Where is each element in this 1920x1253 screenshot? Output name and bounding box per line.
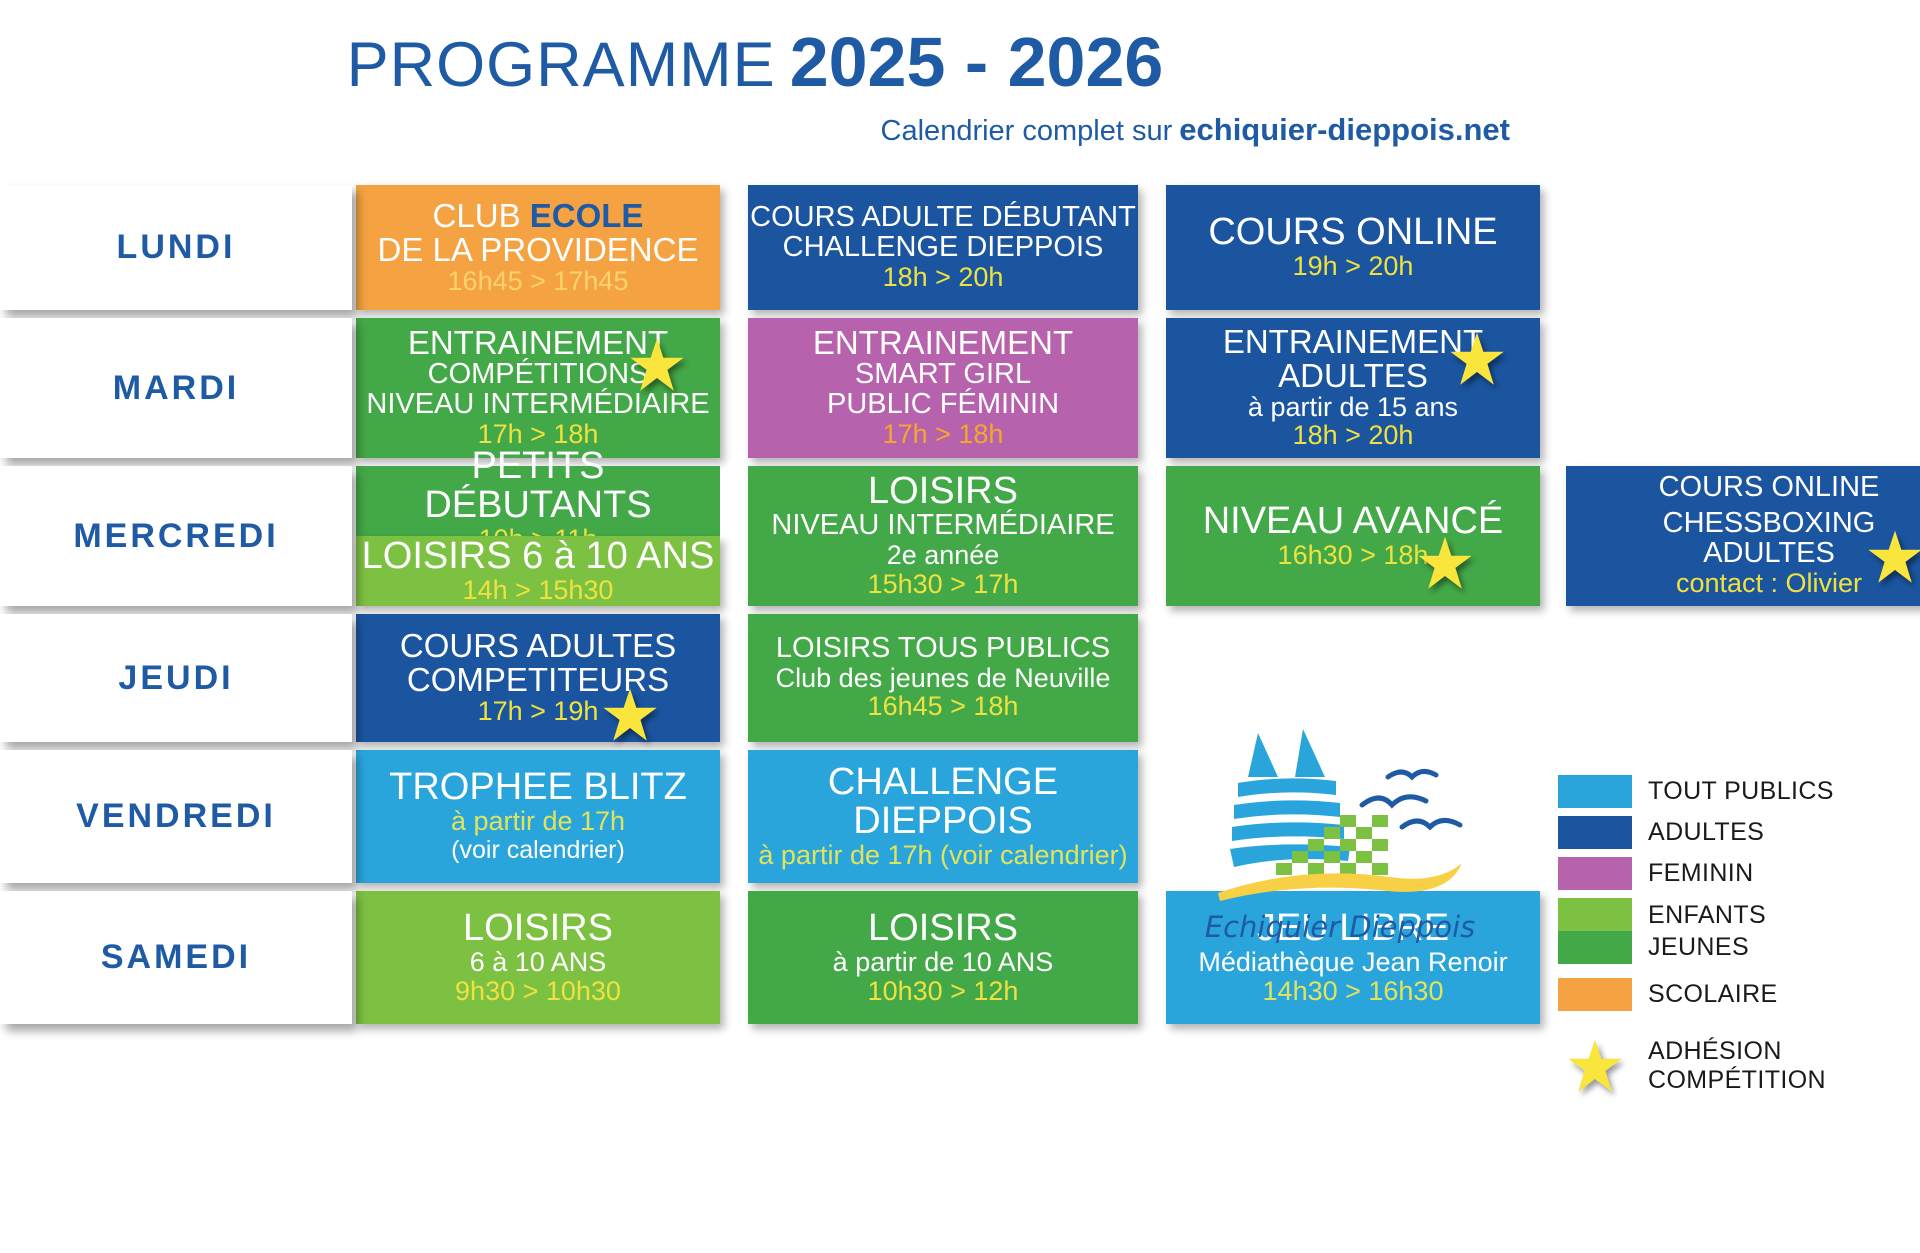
cell-line-1: ENTRAINEMENT bbox=[813, 326, 1073, 360]
legend-swatch-adultes bbox=[1558, 816, 1632, 849]
schedule-cell-entrainement-adultes[interactable]: ENTRAINEMENT ADULTES à partir de 15 ans … bbox=[1166, 318, 1540, 458]
cell-time: à partir de 17h bbox=[451, 807, 625, 837]
cell-time: 18h > 20h bbox=[1293, 421, 1414, 451]
schedule-cell-cours-online-lundi[interactable]: COURS ONLINE 19h > 20h bbox=[1166, 185, 1540, 310]
cell-time: 16h45 > 17h45 bbox=[448, 267, 629, 297]
cell-time: contact : Olivier bbox=[1676, 569, 1862, 599]
cell-line-1: LOISIRS bbox=[868, 909, 1018, 948]
legend-swatch-feminin bbox=[1558, 857, 1632, 890]
cell-line-3: ADULTES bbox=[1703, 539, 1835, 569]
cell-line-1: LOISIRS bbox=[868, 472, 1018, 511]
title-years: 2025 - 2026 bbox=[790, 23, 1164, 101]
day-cells-mercredi: PETITS DÉBUTANTS 10h > 11h LOISIRS 6 à 1… bbox=[356, 466, 1920, 606]
legend-item-adultes: ADULTES bbox=[1558, 816, 1918, 849]
legend-star-container bbox=[1558, 1038, 1632, 1094]
cell-line-2: NIVEAU INTERMÉDIAIRE bbox=[771, 511, 1114, 541]
cell-line-3: NIVEAU INTERMÉDIAIRE bbox=[366, 390, 709, 420]
cell-line-1: PETITS DÉBUTANTS bbox=[356, 447, 720, 525]
cell-line-1a: CLUB bbox=[433, 197, 530, 234]
legend-item-enfants-jeunes: ENFANTS JEUNES bbox=[1558, 898, 1918, 964]
star-icon bbox=[601, 686, 659, 744]
day-label-mardi: MARDI bbox=[0, 318, 352, 458]
schedule-cell-loisirs-tous-publics[interactable]: LOISIRS TOUS PUBLICS Club des jeunes de … bbox=[748, 614, 1138, 742]
day-label-jeudi: JEUDI bbox=[0, 614, 352, 742]
star-icon bbox=[1416, 534, 1474, 592]
cell-line-2: SMART GIRL bbox=[855, 360, 1031, 390]
legend-item-tout-publics: TOUT PUBLICS bbox=[1558, 775, 1918, 808]
subtitle-prefix: Calendrier complet sur bbox=[881, 115, 1173, 147]
cell-time: 16h45 > 18h bbox=[868, 692, 1019, 722]
legend-label-scolaire: SCOLAIRE bbox=[1648, 980, 1778, 1009]
cell-line-2: CHESSBOXING bbox=[1663, 509, 1876, 539]
split-bottom-loisirs-6-10[interactable]: LOISIRS 6 à 10 ANS 14h > 15h30 bbox=[356, 536, 720, 606]
cell-time: 19h > 20h bbox=[1293, 252, 1414, 282]
cell-line-1: TROPHEE BLITZ bbox=[389, 768, 687, 807]
schedule-cell-cours-adultes-competiteurs[interactable]: COURS ADULTES COMPETITEURS 17h > 19h bbox=[356, 614, 720, 742]
cell-time: 15h30 > 17h bbox=[868, 570, 1019, 600]
legend-label-adhesion: ADHÉSION COMPÉTITION bbox=[1648, 1037, 1918, 1095]
legend-label-jeunes: JEUNES bbox=[1648, 931, 1766, 964]
cell-line-1: COURS ADULTES bbox=[400, 629, 676, 663]
cell-line-2: ADULTES bbox=[1278, 359, 1428, 393]
schedule-cell-club-ecole[interactable]: CLUB ECOLE DE LA PROVIDENCE 16h45 > 17h4… bbox=[356, 185, 720, 310]
star-icon bbox=[1566, 1038, 1624, 1094]
day-label-text: MERCREDI bbox=[73, 517, 278, 556]
cell-line-2: 6 à 10 ANS bbox=[470, 948, 607, 977]
split-top-petits-debutants[interactable]: PETITS DÉBUTANTS 10h > 11h bbox=[356, 466, 720, 536]
cell-line-3: PUBLIC FÉMININ bbox=[827, 390, 1059, 420]
cell-line-3: à partir de 15 ans bbox=[1248, 393, 1458, 422]
star-icon bbox=[1448, 330, 1506, 388]
day-row-lundi: LUNDI CLUB ECOLE DE LA PROVIDENCE 16h45 … bbox=[0, 185, 1920, 310]
schedule-cell-loisirs-10-plus-samedi[interactable]: LOISIRS à partir de 10 ANS 10h30 > 12h bbox=[748, 891, 1138, 1024]
cell-line-1: COURS ONLINE bbox=[1208, 213, 1497, 252]
legend-label-enfants: ENFANTS bbox=[1648, 899, 1766, 932]
echiquier-dieppois-logo-icon bbox=[1190, 715, 1490, 915]
day-label-samedi: SAMEDI bbox=[0, 891, 352, 1024]
cell-time: 18h > 20h bbox=[883, 263, 1004, 293]
legend-item-scolaire: SCOLAIRE bbox=[1558, 978, 1918, 1011]
cell-time: 16h30 > 18h bbox=[1278, 541, 1429, 571]
day-cells-lundi: CLUB ECOLE DE LA PROVIDENCE 16h45 > 17h4… bbox=[356, 185, 1920, 310]
cell-line-1: LOISIRS 6 à 10 ANS bbox=[362, 537, 715, 576]
schedule-cell-loisirs-intermediaire[interactable]: LOISIRS NIVEAU INTERMÉDIAIRE 2e année 15… bbox=[748, 466, 1138, 606]
schedule-cell-chessboxing[interactable]: COURS ONLINE CHESSBOXING ADULTES contact… bbox=[1566, 466, 1920, 606]
schedule-cell-entrainement-competitions[interactable]: ENTRAINEMENT COMPÉTITIONS NIVEAU INTERMÉ… bbox=[356, 318, 720, 458]
legend-swatch-enfants bbox=[1558, 898, 1632, 931]
cell-line-2: DIEPPOIS bbox=[853, 802, 1033, 841]
legend-swatch-tout-publics bbox=[1558, 775, 1632, 808]
legend-swatch-scolaire bbox=[1558, 978, 1632, 1011]
cell-line-1: COURS ONLINE bbox=[1659, 473, 1880, 503]
day-label-text: JEUDI bbox=[118, 659, 233, 698]
schedule-cell-loisirs-6-10-samedi[interactable]: LOISIRS 6 à 10 ANS 9h30 > 10h30 bbox=[356, 891, 720, 1024]
cell-line-2: COMPÉTITIONS bbox=[428, 360, 649, 390]
schedule-cell-challenge-dieppois-vendredi[interactable]: CHALLENGE DIEPPOIS à partir de 17h (voir… bbox=[748, 750, 1138, 883]
day-label-text: SAMEDI bbox=[101, 938, 251, 977]
title-programme-word: PROGRAMME bbox=[347, 30, 776, 100]
cell-line-1b-highlight: ECOLE bbox=[530, 197, 644, 234]
day-row-mardi: MARDI ENTRAINEMENT COMPÉTITIONS NIVEAU I… bbox=[0, 318, 1920, 458]
cell-line-1: LOISIRS TOUS PUBLICS bbox=[776, 634, 1110, 664]
day-label-text: MARDI bbox=[113, 369, 239, 408]
schedule-cell-trophee-blitz[interactable]: TROPHEE BLITZ à partir de 17h (voir cale… bbox=[356, 750, 720, 883]
day-label-mercredi: MERCREDI bbox=[0, 466, 352, 606]
day-cells-mardi: ENTRAINEMENT COMPÉTITIONS NIVEAU INTERMÉ… bbox=[356, 318, 1920, 458]
club-logo: Echiquier Dieppois bbox=[1190, 715, 1490, 965]
cell-note: (voir calendrier) bbox=[451, 836, 625, 865]
page-title: PROGRAMME2025 - 2026 bbox=[0, 22, 1510, 102]
logo-club-name: Echiquier Dieppois bbox=[1190, 910, 1490, 944]
cell-line-1: ENTRAINEMENT bbox=[1223, 325, 1483, 359]
website-link[interactable]: echiquier-dieppois.net bbox=[1179, 112, 1510, 147]
legend-swatch-enfants-jeunes bbox=[1558, 898, 1632, 964]
cell-time: 9h30 > 10h30 bbox=[455, 977, 621, 1007]
day-label-lundi: LUNDI bbox=[0, 185, 352, 310]
day-row-mercredi: MERCREDI PETITS DÉBUTANTS 10h > 11h LOIS… bbox=[0, 466, 1920, 606]
legend-swatch-jeunes bbox=[1558, 931, 1632, 964]
cell-line-1: CLUB ECOLE bbox=[433, 199, 644, 233]
subtitle: Calendrier complet surechiquier-dieppois… bbox=[0, 112, 1510, 148]
legend-label-feminin: FEMININ bbox=[1648, 859, 1754, 888]
day-label-text: VENDREDI bbox=[76, 797, 276, 836]
day-cells-jeudi: COURS ADULTES COMPETITEURS 17h > 19h LOI… bbox=[356, 614, 1920, 742]
cell-line-1: LOISIRS bbox=[463, 909, 613, 948]
cell-line-1: CHALLENGE bbox=[828, 763, 1058, 802]
cell-line-2: DE LA PROVIDENCE bbox=[378, 233, 699, 267]
schedule-cell-cours-adulte-debutant[interactable]: COURS ADULTE DÉBUTANT CHALLENGE DIEPPOIS… bbox=[748, 185, 1138, 310]
schedule-cell-niveau-avance[interactable]: NIVEAU AVANCÉ 16h30 > 18h bbox=[1166, 466, 1540, 606]
legend-item-adhesion: ADHÉSION COMPÉTITION bbox=[1558, 1037, 1918, 1095]
cell-line-2: Club des jeunes de Neuville bbox=[776, 664, 1111, 693]
cell-line-2: à partir de 10 ANS bbox=[833, 948, 1054, 977]
cell-time: 14h30 > 16h30 bbox=[1263, 977, 1444, 1007]
cell-time: 14h > 15h30 bbox=[463, 576, 614, 606]
day-label-text: LUNDI bbox=[117, 228, 236, 267]
poster-header: PROGRAMME2025 - 2026 Calendrier complet … bbox=[0, 0, 1920, 160]
day-label-vendredi: VENDREDI bbox=[0, 750, 352, 883]
schedule-cell-smart-girl[interactable]: ENTRAINEMENT SMART GIRL PUBLIC FÉMININ 1… bbox=[748, 318, 1138, 458]
cell-line-2: CHALLENGE DIEPPOIS bbox=[783, 233, 1104, 263]
legend: TOUT PUBLICS ADULTES FEMININ ENFANTS JEU… bbox=[1558, 775, 1918, 1095]
star-icon bbox=[628, 336, 686, 394]
legend-label-tout-publics: TOUT PUBLICS bbox=[1648, 777, 1834, 806]
cell-line-1: COURS ADULTE DÉBUTANT bbox=[750, 203, 1136, 233]
cell-time: à partir de 17h (voir calendrier) bbox=[758, 841, 1127, 871]
cell-time: 10h30 > 12h bbox=[868, 977, 1019, 1007]
cell-line-3: 2e année bbox=[887, 541, 1000, 570]
schedule-cell-mercredi-split[interactable]: PETITS DÉBUTANTS 10h > 11h LOISIRS 6 à 1… bbox=[356, 466, 720, 606]
cell-time: 17h > 19h bbox=[478, 697, 599, 727]
day-row-jeudi: JEUDI COURS ADULTES COMPETITEURS 17h > 1… bbox=[0, 614, 1920, 742]
star-icon bbox=[1866, 528, 1920, 586]
legend-label-adultes: ADULTES bbox=[1648, 818, 1764, 847]
legend-labels-enfants-jeunes: ENFANTS JEUNES bbox=[1648, 899, 1766, 964]
cell-time: 17h > 18h bbox=[883, 420, 1004, 450]
legend-item-feminin: FEMININ bbox=[1558, 857, 1918, 890]
